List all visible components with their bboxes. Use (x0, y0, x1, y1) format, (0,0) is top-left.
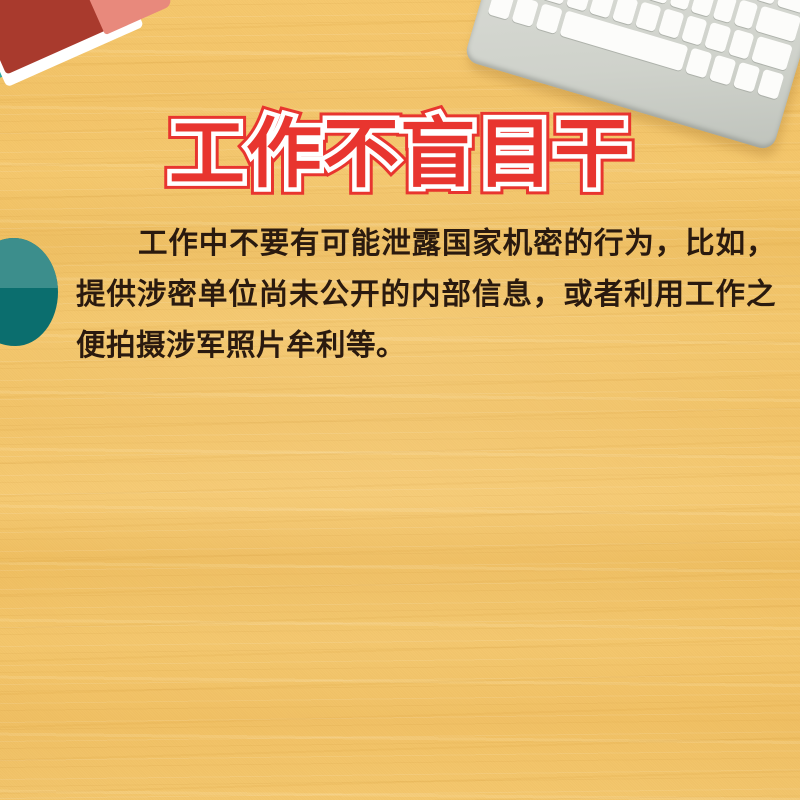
keyboard-key (728, 29, 755, 60)
page-title-fill: 工作不盲目干 (0, 112, 800, 196)
keyboard-key (704, 22, 731, 53)
keyboard-key (757, 69, 785, 100)
keyboard-key (712, 0, 737, 23)
keyboard-key (589, 0, 616, 18)
keyboard-key (635, 1, 662, 32)
keyboard-key (565, 0, 592, 12)
keyboard-key (612, 0, 639, 25)
keyboard-key (751, 36, 793, 71)
keyboard-key (685, 47, 713, 78)
keyboard-key (734, 0, 759, 30)
keyboard-key (691, 0, 716, 17)
keyboard-key (658, 8, 685, 39)
poster-canvas: 工作不盲目干 工作不盲目干 工作不盲目干 工作中不要有可能泄露国家机密的行为，比… (0, 0, 800, 800)
keyboard-key (681, 15, 708, 46)
page-title: 工作不盲目干 工作不盲目干 工作不盲目干 (0, 112, 800, 202)
keyboard-key (709, 55, 737, 86)
keyboard-key (487, 0, 515, 20)
keyboard-key (511, 0, 539, 27)
keyboard-key (733, 62, 761, 93)
body-paragraph: 工作中不要有可能泄露国家机密的行为，比如，提供涉密单位尚未公开的内部信息，或者利… (76, 218, 776, 371)
keyboard-key (536, 3, 564, 34)
teal-blob-highlight (0, 238, 58, 288)
